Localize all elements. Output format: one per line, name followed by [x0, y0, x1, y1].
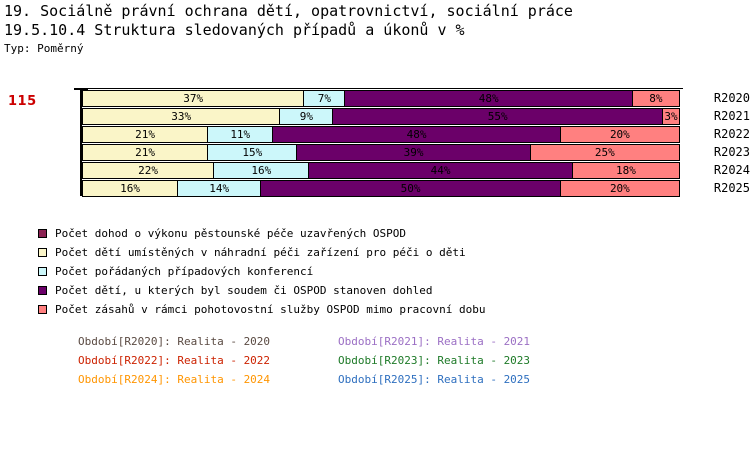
period-row: Období[R2022]: Realita - 2022Období[R202… — [78, 351, 598, 370]
bar-track: 33%9%55%3% — [82, 108, 683, 125]
bar-segment-value: 50% — [401, 183, 421, 194]
period-legend: Období[R2020]: Realita - 2020Období[R202… — [78, 332, 598, 389]
bar-segment: 18% — [572, 162, 680, 179]
bar-segment-value: 39% — [404, 147, 424, 158]
report-title-line-2: 19.5.10.4 Struktura sledovaných případů … — [4, 21, 573, 40]
legend-swatch-icon — [38, 248, 47, 257]
bar-segment: 48% — [272, 126, 560, 143]
bar-segment-value: 11% — [230, 129, 250, 140]
bar-segment-value: 3% — [664, 111, 677, 122]
period-row: Období[R2020]: Realita - 2020Období[R202… — [78, 332, 598, 351]
bar-segment-value: 21% — [135, 147, 155, 158]
bar-segment: 39% — [296, 144, 530, 161]
bar-segment: 9% — [279, 108, 333, 125]
bar-segment-value: 33% — [171, 111, 191, 122]
bar-segment: 3% — [662, 108, 680, 125]
bar-segment: 37% — [82, 90, 304, 107]
bar-segment: 25% — [530, 144, 680, 161]
bar-segment: 8% — [632, 90, 680, 107]
chart-top-rule — [80, 88, 683, 89]
legend-label: Počet pořádaných případových konferencí — [55, 265, 313, 278]
bar-track: 16%14%50%20% — [82, 180, 683, 197]
legend-label: Počet dětí umístěných v náhradní péči za… — [55, 246, 466, 259]
bar-segment: 33% — [82, 108, 280, 125]
period-label: Období[R2024]: Realita - 2024 — [78, 373, 338, 386]
bar-row-label: R2022 — [672, 126, 750, 143]
bar-segment: 20% — [560, 180, 680, 197]
legend-item: Počet dětí umístěných v náhradní péči za… — [38, 243, 485, 262]
bar-segment: 7% — [303, 90, 345, 107]
bar-segment: 20% — [560, 126, 680, 143]
bar-segment-value: 21% — [135, 129, 155, 140]
bar-segment-value: 37% — [183, 93, 203, 104]
bar-segment-value: 25% — [595, 147, 615, 158]
bar-row-label: R2020 — [672, 90, 750, 107]
bar-segment-value: 16% — [251, 165, 271, 176]
bar-row-label: R2025 — [672, 180, 750, 197]
bar-segment: 11% — [207, 126, 273, 143]
bar-segment-value: 7% — [318, 93, 331, 104]
legend-swatch-icon — [38, 229, 47, 238]
legend-label: Počet dětí, u kterých byl soudem či OSPO… — [55, 284, 433, 297]
bar-segment-value: 48% — [479, 93, 499, 104]
bar-segment: 16% — [213, 162, 309, 179]
legend-label: Počet zásahů v rámci pohotovostní služby… — [55, 303, 485, 316]
bar-segment: 48% — [344, 90, 632, 107]
bar-row-label: R2024 — [672, 162, 750, 179]
chart-legend: Počet dohod o výkonu pěstounské péče uza… — [38, 224, 485, 319]
bar-row: R202516%14%50%20% — [0, 180, 750, 197]
bar-row: R202037%7%48%8% — [0, 90, 750, 107]
report-header: 19. Sociálně právní ochrana dětí, opatro… — [4, 2, 573, 40]
legend-item: Počet zásahů v rámci pohotovostní služby… — [38, 300, 485, 319]
bar-row-label: R2021 — [672, 108, 750, 125]
bar-track: 22%16%44%18% — [82, 162, 683, 179]
period-row: Období[R2024]: Realita - 2024Období[R202… — [78, 370, 598, 389]
bar-segment: 22% — [82, 162, 214, 179]
period-label: Období[R2021]: Realita - 2021 — [338, 335, 598, 348]
bar-segment: 15% — [207, 144, 297, 161]
report-title-line-1: 19. Sociálně právní ochrana dětí, opatro… — [4, 2, 573, 21]
legend-label: Počet dohod o výkonu pěstounské péče uza… — [55, 227, 406, 240]
bar-track: 21%15%39%25% — [82, 144, 683, 161]
bar-segment: 21% — [82, 126, 208, 143]
legend-swatch-icon — [38, 286, 47, 295]
bar-segment: 21% — [82, 144, 208, 161]
bar-row: R202133%9%55%3% — [0, 108, 750, 125]
bar-segment-value: 14% — [209, 183, 229, 194]
bar-segment-value: 18% — [616, 165, 636, 176]
bar-segment-value: 20% — [610, 129, 630, 140]
bar-segment-value: 15% — [242, 147, 262, 158]
bar-segment-value: 8% — [649, 93, 662, 104]
period-label: Období[R2022]: Realita - 2022 — [78, 354, 338, 367]
bar-row: R202221%11%48%20% — [0, 126, 750, 143]
bar-segment: 50% — [260, 180, 561, 197]
bar-segment: 16% — [82, 180, 178, 197]
bar-segment: 14% — [177, 180, 261, 197]
period-label: Období[R2025]: Realita - 2025 — [338, 373, 598, 386]
bar-track: 37%7%48%8% — [82, 90, 683, 107]
period-label: Období[R2023]: Realita - 2023 — [338, 354, 598, 367]
bar-segment-value: 55% — [488, 111, 508, 122]
bar-segment: 44% — [308, 162, 572, 179]
bar-row: R202422%16%44%18% — [0, 162, 750, 179]
bar-track: 21%11%48%20% — [82, 126, 683, 143]
bar-segment-value: 9% — [300, 111, 313, 122]
chart-type-label: Typ: Poměrný — [4, 42, 83, 55]
period-label: Období[R2020]: Realita - 2020 — [78, 335, 338, 348]
bar-row: R202321%15%39%25% — [0, 144, 750, 161]
legend-item: Počet pořádaných případových konferencí — [38, 262, 485, 281]
bar-row-label: R2023 — [672, 144, 750, 161]
stacked-bar-chart: 115 R202037%7%48%8%R202133%9%55%3%R20222… — [0, 86, 750, 198]
bar-segment-value: 20% — [610, 183, 630, 194]
bar-segment-value: 16% — [120, 183, 140, 194]
legend-item: Počet dětí, u kterých byl soudem či OSPO… — [38, 281, 485, 300]
bar-segment: 55% — [332, 108, 663, 125]
legend-item: Počet dohod o výkonu pěstounské péče uza… — [38, 224, 485, 243]
legend-swatch-icon — [38, 267, 47, 276]
legend-swatch-icon — [38, 305, 47, 314]
bar-segment-value: 44% — [431, 165, 451, 176]
bar-segment-value: 22% — [138, 165, 158, 176]
bar-segment-value: 48% — [407, 129, 427, 140]
